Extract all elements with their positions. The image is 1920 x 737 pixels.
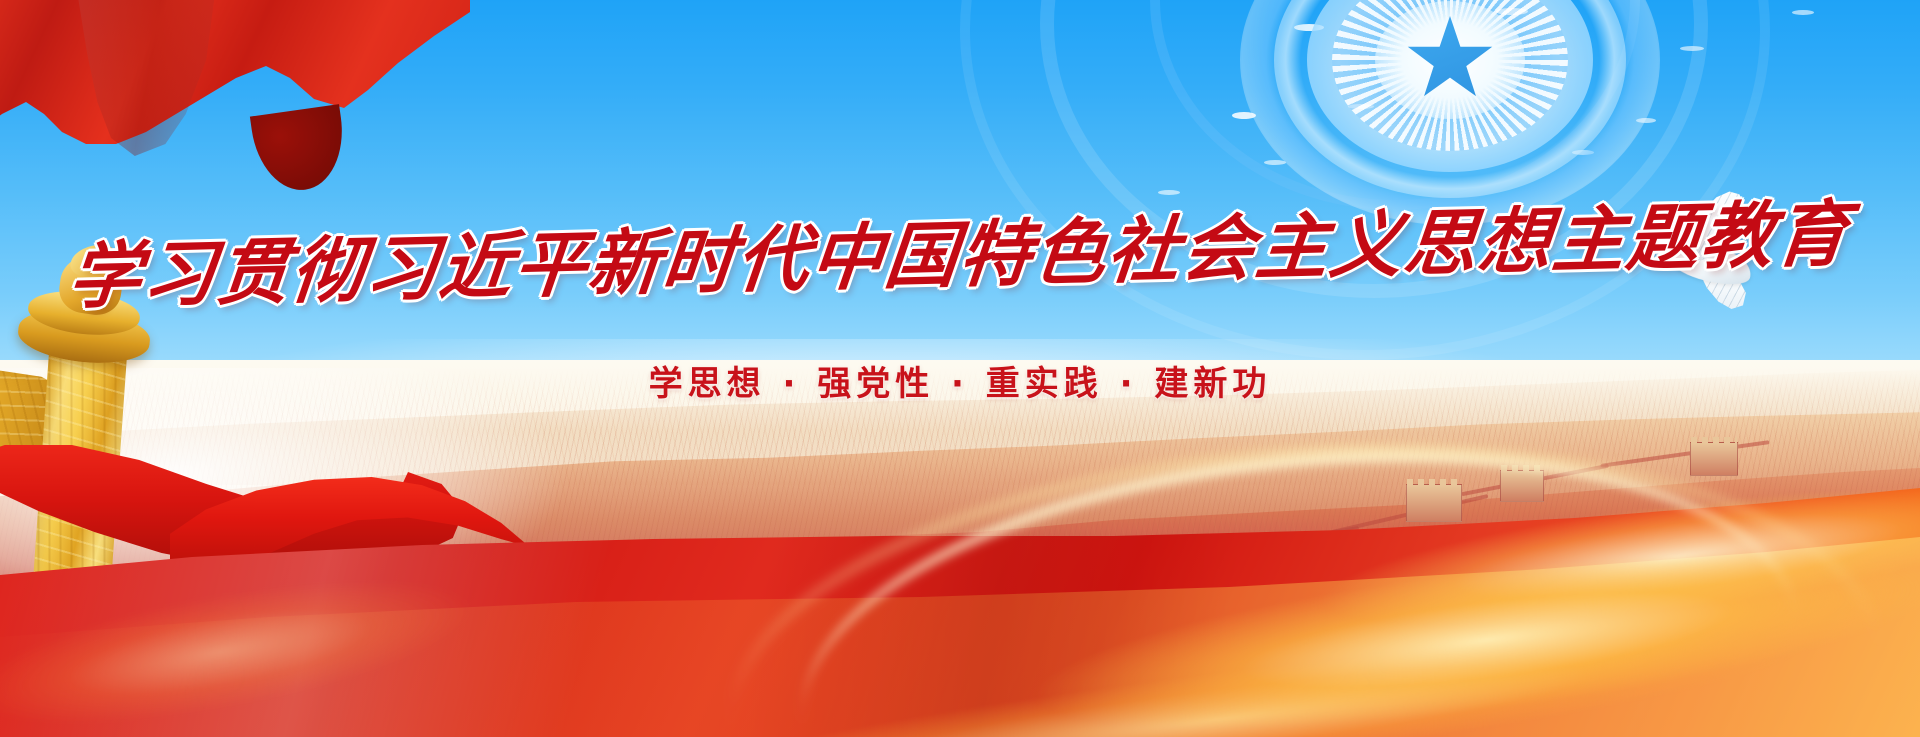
sparkle-dot [1496,8,1528,15]
sparkle-dot [1294,24,1324,31]
sparkle-dot [1264,160,1286,165]
sparkle-dot [1636,118,1656,123]
sparkle-dot [1348,104,1374,109]
sparkle-dot [1406,62,1430,67]
sparkle-dot [1680,46,1704,51]
sparkle-dot [1792,10,1814,15]
party-education-banner: 学习贯彻习近平新时代中国特色社会主义思想主题教育 学思想 · 强党性 · 重实践… [0,0,1920,737]
sparkle-dot [1572,150,1594,155]
sparkle-dot [1232,112,1256,119]
banner-subtitle: 学思想 · 强党性 · 重实践 · 建新功 [0,356,1920,405]
wall-watchtower [1690,442,1738,476]
